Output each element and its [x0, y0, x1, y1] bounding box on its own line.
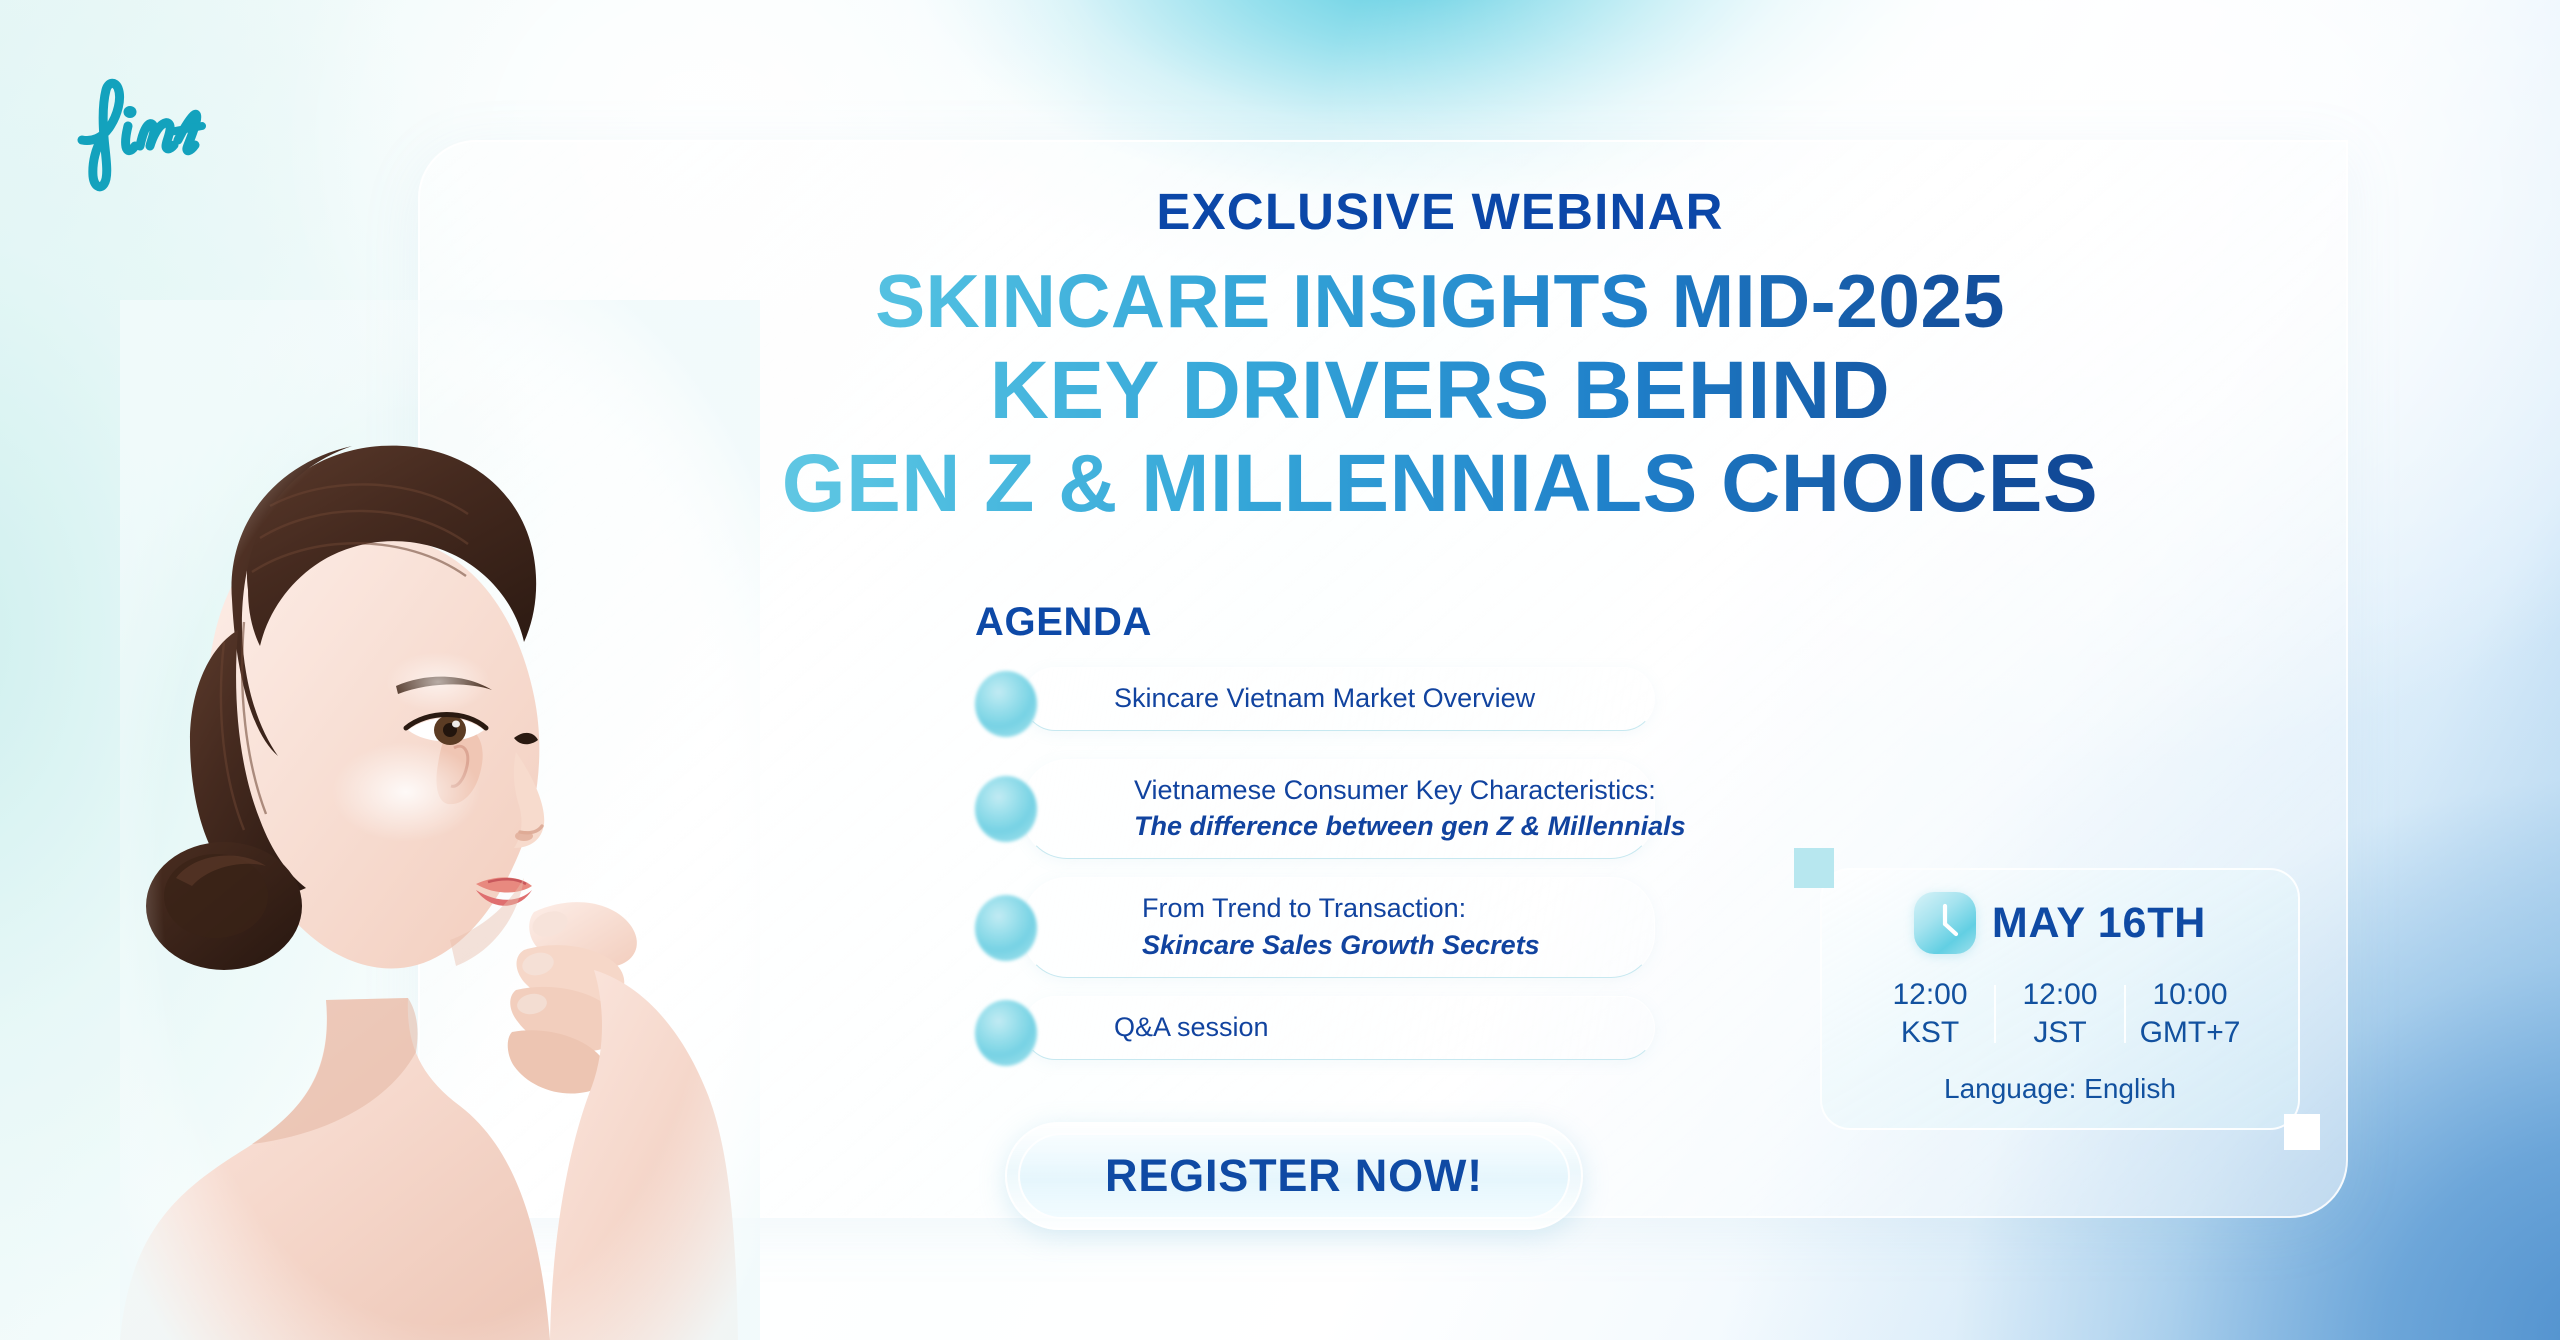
timezone-label: GMT+7 [2126, 1014, 2254, 1052]
hero-title-line-3: GEN Z & MILLENNIALS CHOICES [660, 438, 2220, 530]
fint-logo[interactable] [66, 74, 296, 192]
timezone-time: 12:00 [1866, 976, 1994, 1014]
hero-headline: EXCLUSIVE WEBINAR SKINCARE INSIGHTS MID-… [660, 185, 2220, 530]
agenda-item-title: From Trend to Transaction: [1142, 890, 1624, 926]
timezone-gmt7: 10:00 GMT+7 [2126, 976, 2254, 1053]
agenda-item: From Trend to Transaction: Skincare Sale… [975, 877, 1655, 977]
agenda-item: Q&A session [975, 996, 1655, 1070]
agenda-item: Skincare Vietnam Market Overview [975, 667, 1655, 741]
agenda-item-subtitle: The difference between gen Z & Millennia… [1134, 808, 1624, 844]
event-date-row: MAY 16TH [1822, 892, 2298, 954]
hero-kicker: EXCLUSIVE WEBINAR [660, 185, 2220, 239]
agenda-item-title: Skincare Vietnam Market Overview [1114, 680, 1624, 716]
event-details-card: MAY 16TH 12:00 KST 12:00 JST 10:00 GMT+7… [1820, 868, 2300, 1130]
agenda-bullet-icon [975, 776, 1037, 842]
timezone-label: KST [1866, 1014, 1994, 1052]
agenda-pill: From Trend to Transaction: Skincare Sale… [1023, 877, 1655, 977]
timezone-row: 12:00 KST 12:00 JST 10:00 GMT+7 [1822, 976, 2298, 1053]
timezone-jst: 12:00 JST [1996, 976, 2124, 1053]
agenda-pill: Vietnamese Consumer Key Characteristics:… [1023, 759, 1655, 859]
agenda-pill: Skincare Vietnam Market Overview [1023, 667, 1655, 731]
agenda-heading: AGENDA [975, 600, 1655, 645]
timezone-time: 12:00 [1996, 976, 2124, 1014]
clock-icon [1914, 892, 1976, 954]
register-button-label: REGISTER NOW! [1105, 1150, 1483, 1202]
hero-title-line-1: SKINCARE INSIGHTS MID-2025 [660, 259, 2220, 343]
agenda-section: AGENDA Skincare Vietnam Market Overview … [975, 600, 1655, 1088]
register-now-button[interactable]: REGISTER NOW! [1018, 1133, 1570, 1219]
agenda-pill: Q&A session [1023, 996, 1655, 1060]
card-accent-square-bottom-right [2284, 1114, 2320, 1150]
agenda-item-title: Q&A session [1114, 1009, 1624, 1045]
agenda-bullet-icon [975, 1000, 1037, 1066]
agenda-bullet-icon [975, 671, 1037, 737]
webinar-banner: EXCLUSIVE WEBINAR SKINCARE INSIGHTS MID-… [0, 0, 2560, 1340]
card-accent-square-top-left [1794, 848, 1834, 888]
timezone-label: JST [1996, 1014, 2124, 1052]
hero-title-line-2: KEY DRIVERS BEHIND [660, 345, 2220, 437]
register-cta-wrapper[interactable]: REGISTER NOW! [1005, 1122, 1583, 1230]
agenda-item-title: Vietnamese Consumer Key Characteristics: [1134, 772, 1624, 808]
agenda-item: Vietnamese Consumer Key Characteristics:… [975, 759, 1655, 859]
timezone-time: 10:00 [2126, 976, 2254, 1014]
event-date: MAY 16TH [1992, 899, 2206, 948]
agenda-item-subtitle: Skincare Sales Growth Secrets [1142, 927, 1624, 963]
agenda-bullet-icon [975, 895, 1037, 961]
event-language: Language: English [1822, 1073, 2298, 1105]
timezone-kst: 12:00 KST [1866, 976, 1994, 1053]
